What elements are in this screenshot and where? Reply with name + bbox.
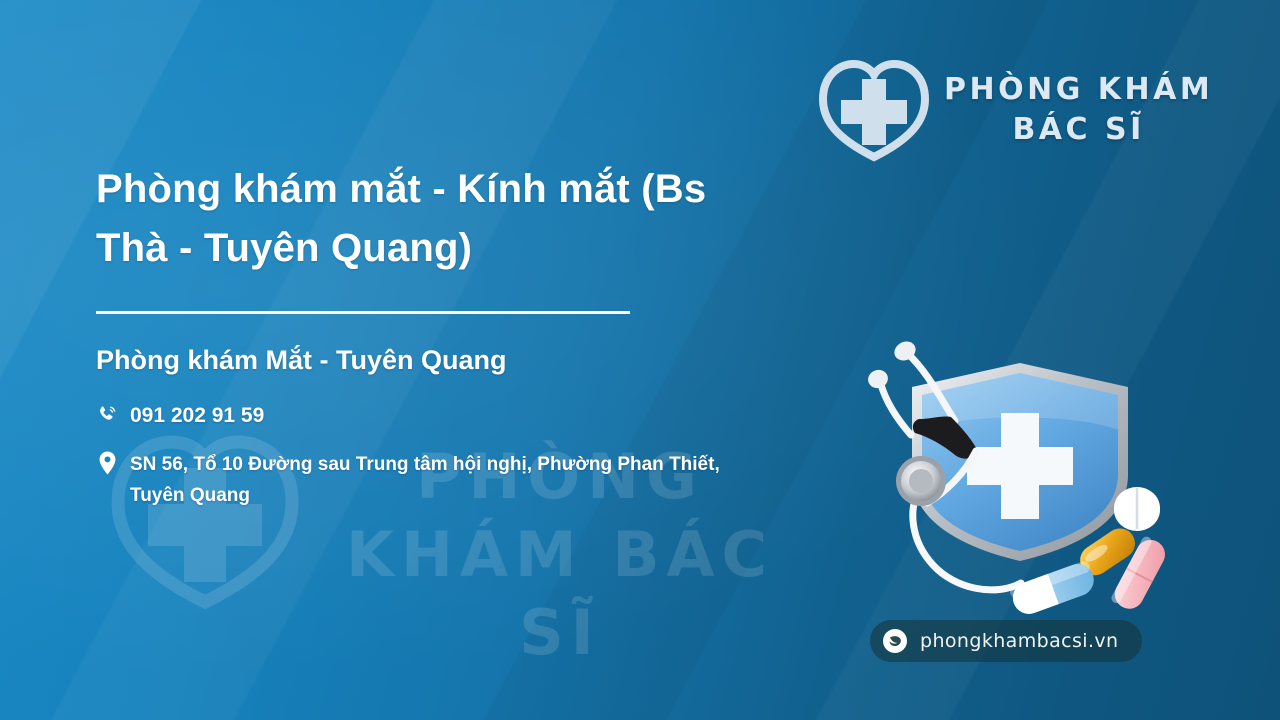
phone-ringing-icon — [96, 402, 118, 428]
white-tablet — [1114, 487, 1160, 531]
divider — [96, 311, 630, 314]
brand-logo: PHÒNG KHÁM BÁC SĨ — [818, 58, 1213, 162]
clinic-subtitle: Phòng khám Mắt - Tuyên Quang — [96, 343, 736, 377]
brand-text: PHÒNG KHÁM BÁC SĨ — [944, 70, 1213, 150]
address-row[interactable]: SN 56, Tổ 10 Đường sau Trung tâm hội ngh… — [96, 449, 736, 511]
website-badge[interactable]: phongkhambacsi.vn — [870, 620, 1142, 662]
clinic-banner: PHÒNG KHÁM BÁC SĨ PHÒNG KHÁM BÁC SĨ Phòn… — [0, 0, 1280, 720]
location-pin-icon — [96, 450, 118, 476]
heart-medical-cross-icon — [818, 58, 930, 162]
watermark-line2: BÁC SĨ — [519, 518, 774, 669]
shield-shape — [912, 363, 1128, 561]
globe-leaf-icon — [882, 628, 908, 654]
content-column: Phòng khám mắt - Kính mắt (Bs Thà - Tuyê… — [96, 160, 736, 511]
stethoscope-chestpiece — [896, 456, 946, 506]
phone-number: 091 202 91 59 — [130, 401, 264, 431]
phone-row[interactable]: 091 202 91 59 — [96, 401, 736, 431]
medical-shield-stethoscope-pills-illustration — [845, 325, 1185, 625]
address-text: SN 56, Tổ 10 Đường sau Trung tâm hội ngh… — [130, 449, 736, 511]
brand-line2: BÁC SĨ — [944, 110, 1213, 150]
blue-white-capsule — [1008, 560, 1098, 619]
page-title: Phòng khám mắt - Kính mắt (Bs Thà - Tuyê… — [96, 160, 736, 278]
brand-line1: PHÒNG KHÁM — [944, 72, 1213, 107]
stethoscope-eartips — [866, 338, 919, 391]
website-url: phongkhambacsi.vn — [920, 630, 1118, 652]
